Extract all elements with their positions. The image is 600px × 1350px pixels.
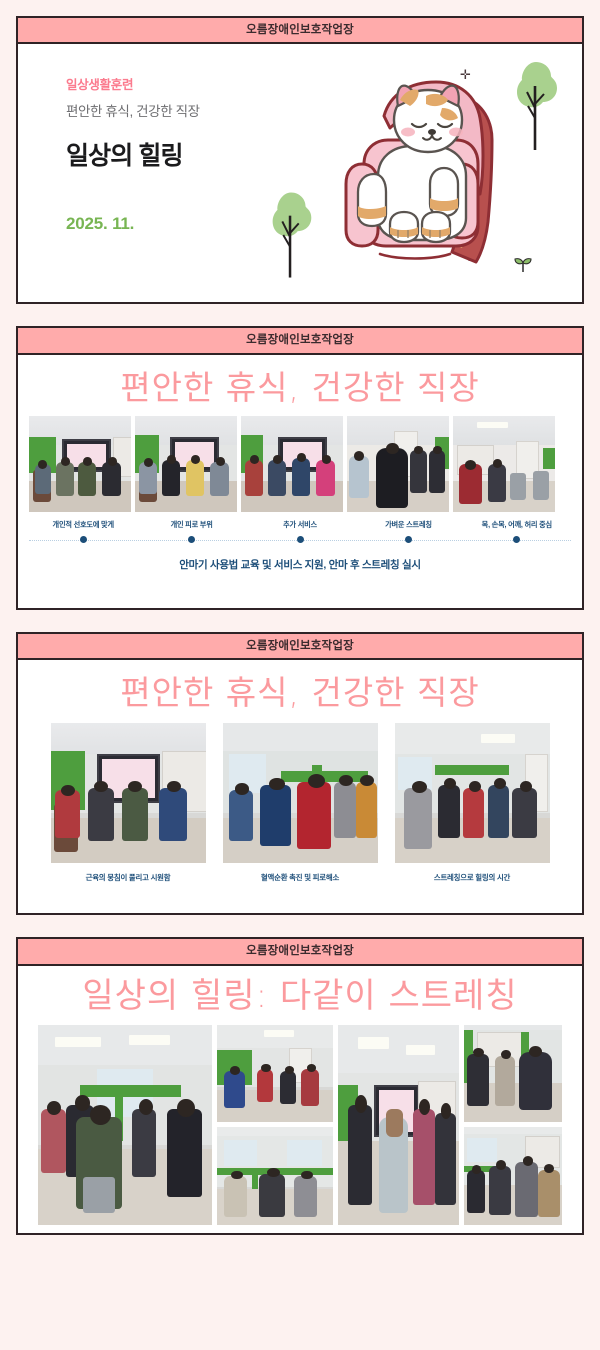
photo-strip [18, 416, 582, 512]
timeline-dots [29, 536, 571, 543]
slide-cover-body: 일상생활훈련 편안한 휴식, 건강한 직장 일상의 힐링 2025. 11. [18, 44, 582, 302]
photo-seated-massage-four-people [51, 723, 206, 863]
photo-massage-chairs-group-2 [135, 416, 237, 512]
photo-caption: 근육의 뭉침이 풀리고 시원함 [51, 872, 206, 883]
sprout-icon [512, 252, 534, 279]
timeline-dot [405, 536, 412, 543]
slide-footer-note: 안마기 사용법 교육 및 서비스 지원, 안마 후 스트레칭 실시 [18, 557, 582, 572]
slide-cover: 오름장애인보호작업장 일상생활훈련 편안한 휴식, 건강한 직장 일상의 힐링 … [16, 16, 584, 304]
cover-subtitle: 편안한 휴식, 건강한 직장 [66, 100, 200, 120]
slide-group-stretching: 오름장애인보호작업장 일상의 힐링: 다같이 스트레칭 [16, 937, 584, 1234]
photo-caption: 스트레칭으로 힐링의 시간 [395, 872, 550, 883]
slide-group-stretching-body: 일상의 힐링: 다같이 스트레칭 [18, 966, 582, 1233]
photo-grid [18, 1025, 582, 1225]
slide-massage-benefits: 오름장애인보호작업장 편안한 휴식, 건강한 직장 [16, 632, 584, 915]
photo-two-men-shoulder-stretch [464, 1025, 562, 1122]
photo-massage-chairs-group-1 [29, 416, 131, 512]
cat-in-armchair-illustration [338, 72, 514, 289]
slide-header-title: 오름장애인보호작업장 [18, 634, 582, 660]
photo-caption: 개인 피로 부위 [137, 520, 245, 530]
photo-group-overhead-stretch [338, 1025, 458, 1225]
photo-caption: 가벼운 스트레칭 [354, 520, 462, 530]
photo-caption: 목, 손목, 어깨, 허리 중심 [463, 520, 571, 530]
photo-caption: 혈액순환 촉진 및 피로해소 [223, 872, 378, 883]
tree-icon [262, 186, 320, 289]
photo-neck-stretch-group [223, 723, 378, 863]
slide-header-title: 오름장애인보호작업장 [18, 939, 582, 965]
photo-captions: 근육의 뭉침이 풀리고 시원함 혈액순환 촉진 및 피로해소 스트레칭으로 힐링… [18, 872, 582, 883]
photo-workshop-arm-stretch-wide [38, 1025, 212, 1225]
photo-massage-room-wide [453, 416, 555, 512]
cover-title: 일상의 힐링 [66, 136, 200, 172]
photo-stretching-standing-group [347, 416, 449, 512]
photo-grid-column [464, 1025, 562, 1225]
photo-grid-column [38, 1025, 212, 1225]
slide-header-title: 오름장애인보호작업장 [18, 328, 582, 354]
cover-illustration: ✛ ✛ [300, 46, 580, 300]
cover-date: 2025. 11. [66, 214, 134, 234]
cover-eyebrow: 일상생활훈련 [66, 74, 200, 93]
cover-text-block: 일상생활훈련 편안한 휴식, 건강한 직장 일상의 힐링 [66, 74, 200, 172]
slide-massage-benefits-body: 편안한 휴식, 건강한 직장 [18, 660, 582, 913]
slide-deck: 오름장애인보호작업장 일상생활훈련 편안한 휴식, 건강한 직장 일상의 힐링 … [0, 0, 600, 1273]
slide-title: 편안한 휴식, 건강한 직장 [18, 355, 582, 416]
photo-caption: 추가 서비스 [246, 520, 354, 530]
timeline-dot [513, 536, 520, 543]
photo-pair-stretch-workshop [464, 1127, 562, 1225]
photo-caption: 개인적 선호도에 맞게 [29, 520, 137, 530]
photo-seated-head-stretch [217, 1127, 333, 1225]
photo-grid-column [338, 1025, 458, 1225]
photo-workshop-row-stretch [217, 1025, 333, 1122]
timeline-dot [188, 536, 195, 543]
slide-title: 일상의 힐링: 다같이 스트레칭 [18, 966, 582, 1025]
slide-massage-overview: 오름장애인보호작업장 편안한 휴식, 건강한 직장 [16, 326, 584, 609]
slide-massage-overview-body: 편안한 휴식, 건강한 직장 [18, 355, 582, 608]
slide-title: 편안한 휴식, 건강한 직장 [18, 660, 582, 723]
photo-grid-column [217, 1025, 333, 1225]
timeline [29, 536, 571, 546]
photo-captions: 개인적 선호도에 맞게 개인 피로 부위 추가 서비스 가벼운 스트레칭 목, … [18, 520, 582, 530]
timeline-dot [297, 536, 304, 543]
photo-massage-chairs-group-3 [241, 416, 343, 512]
photo-workshop-stretching-circle [395, 723, 550, 863]
photo-row [18, 723, 582, 863]
slide-header-title: 오름장애인보호작업장 [18, 18, 582, 44]
timeline-dot [80, 536, 87, 543]
tree-icon [506, 56, 566, 161]
